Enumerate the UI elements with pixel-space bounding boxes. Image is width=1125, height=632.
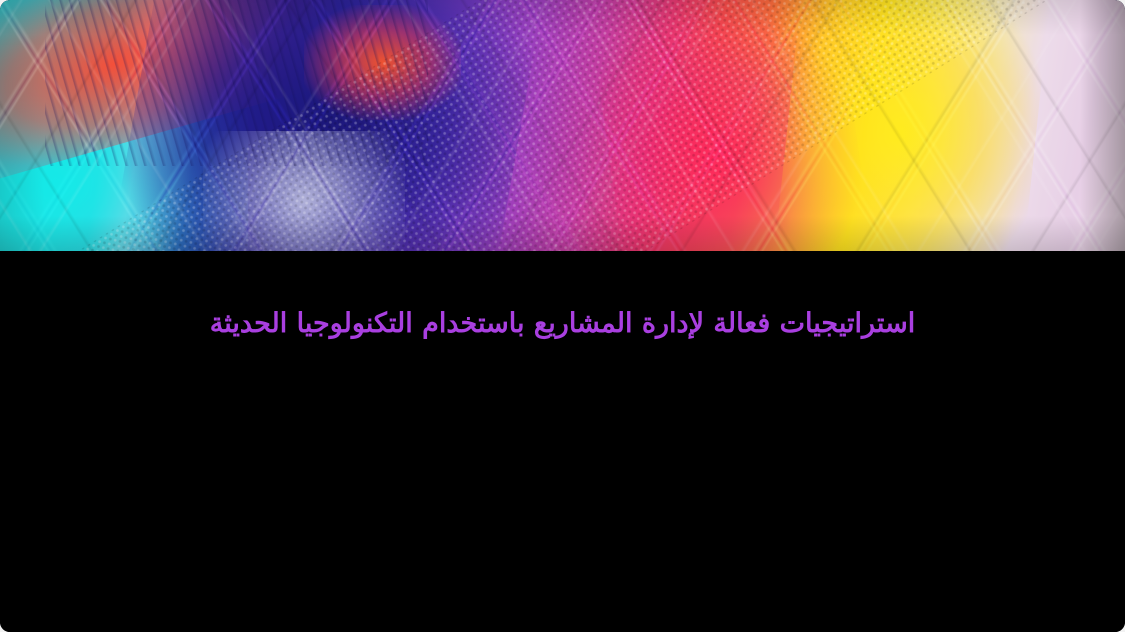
slide-canvas: استراتيجيات فعالة لإدارة المشاريع باستخد… xyxy=(0,0,1125,632)
hero-vignette-overlay xyxy=(0,0,1125,251)
slide-body: استراتيجيات فعالة لإدارة المشاريع باستخد… xyxy=(0,251,1125,632)
page-title: استراتيجيات فعالة لإدارة المشاريع باستخد… xyxy=(0,306,1125,342)
hero-banner-image xyxy=(0,0,1125,251)
